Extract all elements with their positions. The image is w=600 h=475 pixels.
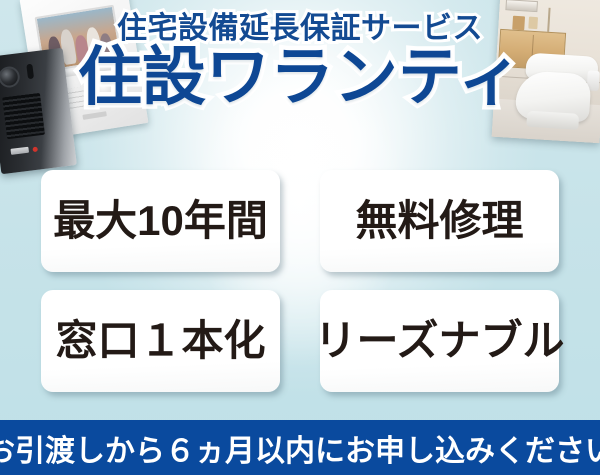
service-title: 住設ワランティ <box>0 43 600 112</box>
status-led <box>32 147 38 153</box>
feature-box-single-contact: 窓口１本化 <box>41 290 280 392</box>
feature-label: 無料修理 <box>355 200 523 242</box>
toilet-base <box>526 111 579 130</box>
feature-box-max-years: 最大10年間 <box>41 170 280 272</box>
feature-box-free-repair: 無料修理 <box>320 170 559 272</box>
cta-text: お引渡しから６ヵ月以内にお申し込みください <box>0 426 600 470</box>
wall-vent <box>505 0 538 12</box>
headline-block: 住宅設備延長保証サービス 住設ワランティ <box>0 14 600 112</box>
feature-box-reasonable: リーズナブル <box>320 290 559 392</box>
feature-label: 最大10年間 <box>53 200 268 242</box>
promo-banner: 住宅設備延長保証サービス 住設ワランティ 最大10年間 無料修理 窓口１本化 リ… <box>0 0 600 475</box>
feature-grid: 最大10年間 無料修理 窓口１本化 リーズナブル <box>41 170 559 392</box>
service-subtitle: 住宅設備延長保証サービス <box>0 14 600 45</box>
feature-label: 窓口１本化 <box>55 320 265 362</box>
feature-label: リーズナブル <box>315 320 565 362</box>
cta-banner: お引渡しから６ヵ月以内にお申し込みください <box>0 420 600 475</box>
call-button <box>10 147 29 155</box>
